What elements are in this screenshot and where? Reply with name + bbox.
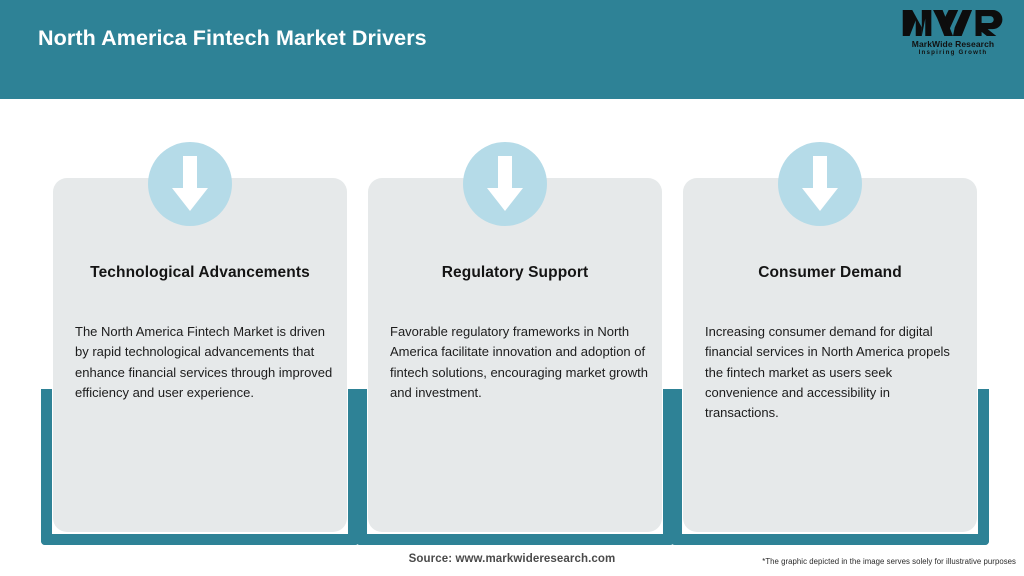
- arrow-down-icon: [463, 142, 547, 226]
- brand-logo: MarkWide Research Inspiring Growth: [901, 8, 1005, 66]
- arrow-down-icon: [148, 142, 232, 226]
- card-title: Consumer Demand: [683, 264, 977, 282]
- driver-card-3: Consumer Demand Increasing consumer dema…: [671, 99, 989, 549]
- card-body-text: Increasing consumer demand for digital f…: [705, 322, 967, 423]
- card-surface[interactable]: Regulatory Support Favorable regulatory …: [368, 178, 662, 532]
- card-body-text: Favorable regulatory frameworks in North…: [390, 322, 652, 403]
- card-title: Technological Advancements: [53, 264, 347, 282]
- drivers-card-row: Technological Advancements The North Ame…: [0, 99, 1024, 576]
- card-body-text: The North America Fintech Market is driv…: [75, 322, 337, 403]
- disclaimer-label: *The graphic depicted in the image serve…: [762, 557, 1016, 566]
- page-title: North America Fintech Market Drivers: [38, 26, 427, 51]
- logo-company-name: MarkWide Research: [901, 39, 1005, 49]
- card-surface[interactable]: Technological Advancements The North Ame…: [53, 178, 347, 532]
- logo-tagline: Inspiring Growth: [901, 49, 1005, 57]
- card-surface[interactable]: Consumer Demand Increasing consumer dema…: [683, 178, 977, 532]
- driver-card-1: Technological Advancements The North Ame…: [41, 99, 359, 549]
- card-title: Regulatory Support: [368, 264, 662, 282]
- arrow-down-icon: [778, 142, 862, 226]
- mwr-logo-icon: [901, 8, 1005, 38]
- header-bar: North America Fintech Market Drivers Mar…: [0, 0, 1024, 99]
- driver-card-2: Regulatory Support Favorable regulatory …: [356, 99, 674, 549]
